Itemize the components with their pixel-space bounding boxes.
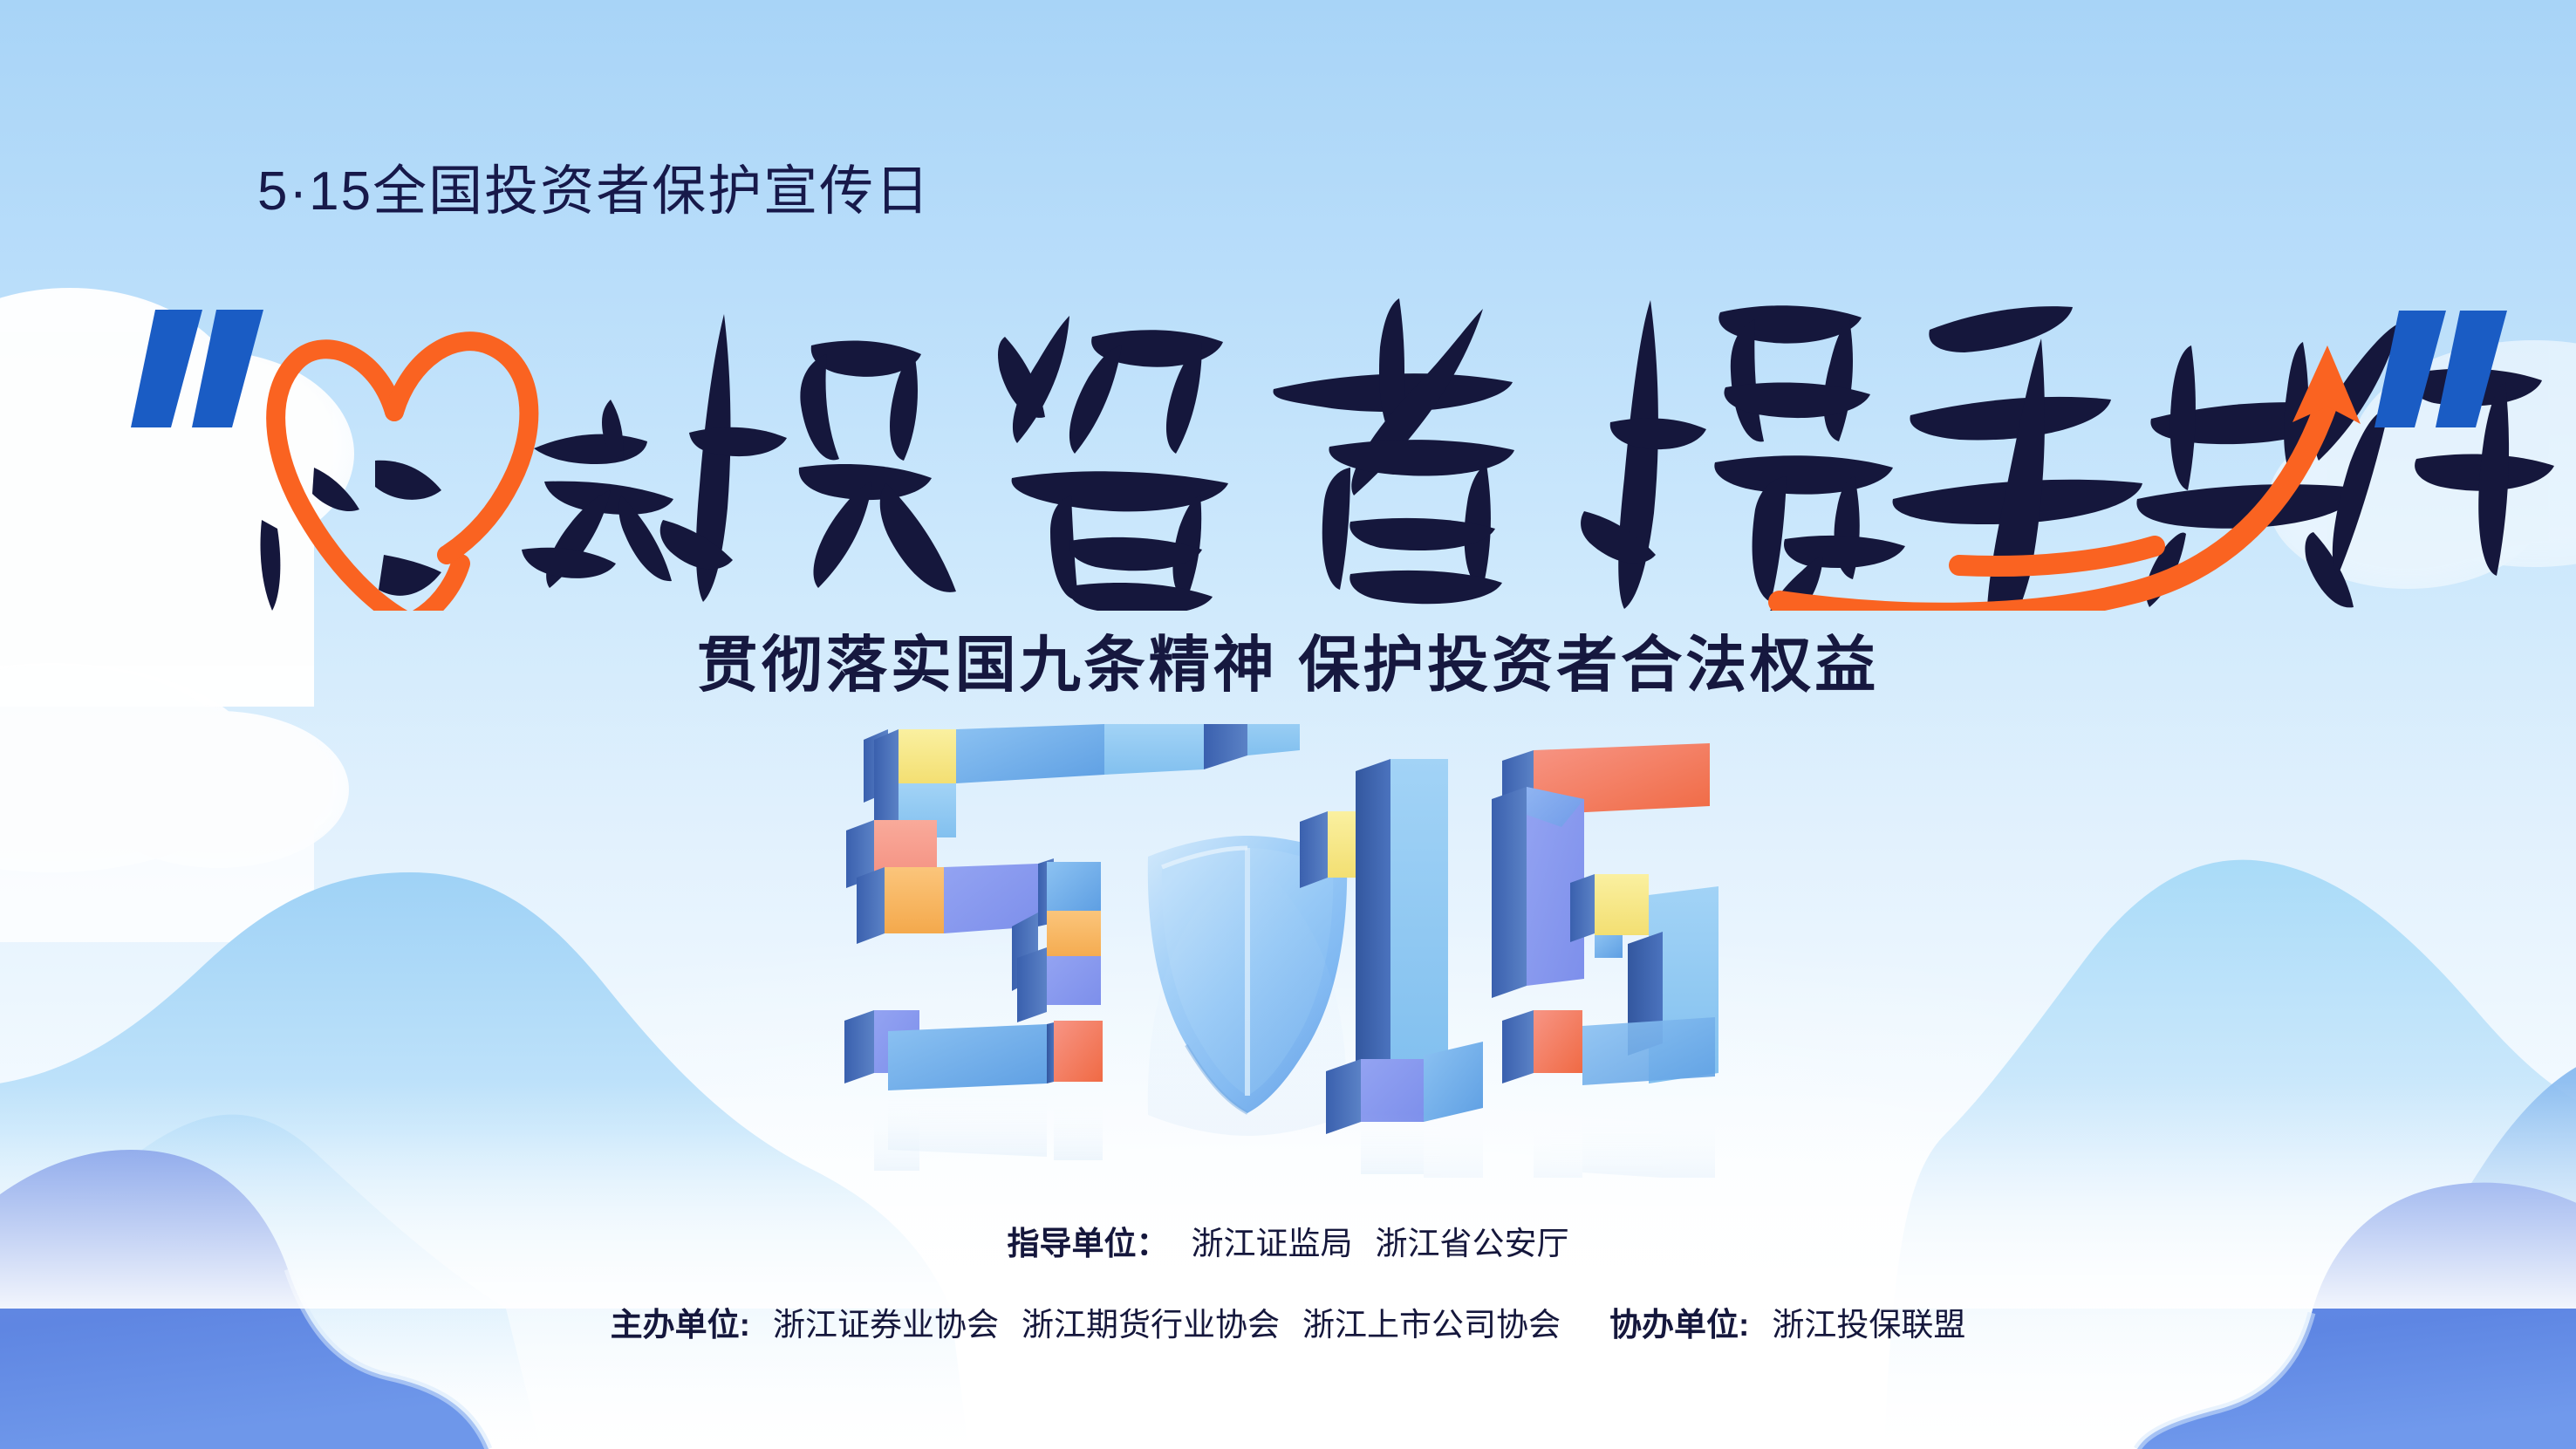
poster-canvas: 5·15全国投资者保护宣传日 .ink { fill:#15173C; } .o…	[0, 0, 2576, 1449]
guidance-label: 指导单位：	[1008, 1226, 1169, 1261]
subtitle-text: 贯彻落实国九条精神 保护投资者合法权益	[0, 616, 2576, 704]
mountain-left-far	[0, 1115, 541, 1449]
host-value-2: 浙江上市公司协会	[1302, 1307, 1561, 1343]
mountain-left-deep-rim	[288, 1269, 489, 1449]
host-value-0: 浙江证券业协会	[773, 1307, 999, 1343]
logo-515	[837, 724, 1736, 1178]
host-value-1: 浙江期货行业协会	[1022, 1307, 1280, 1343]
char-xie	[1581, 300, 1905, 611]
char-zi	[998, 316, 1228, 611]
coorganizer-value-0: 浙江投保联盟	[1772, 1307, 1965, 1343]
headline-calligraphy: .ink { fill:#15173C; } .orng { fill:none…	[0, 262, 2576, 611]
char-xing	[2316, 323, 2554, 576]
open-quote-mark	[131, 310, 263, 427]
guidance-value-1: 浙江省公安厅	[1376, 1226, 1569, 1261]
char-zhe	[1274, 298, 1514, 604]
host-label: 主办单位:	[611, 1307, 750, 1343]
guidance-value-0: 浙江证监局	[1192, 1226, 1353, 1261]
eyebrow-text: 5·15全国投资者保护宣传日	[257, 147, 931, 225]
coorganizer-label: 协办单位:	[1609, 1307, 1749, 1343]
char-tou	[660, 314, 956, 602]
cloud-left-lower	[0, 663, 349, 942]
footer-guidance-line: 指导单位：浙江证监局浙江省公安厅	[0, 1217, 2576, 1264]
mountain-right-light	[1884, 860, 2576, 1449]
mountain-left-light	[0, 872, 968, 1449]
logo-digit-5-right	[1492, 743, 1718, 1178]
char-xi	[522, 400, 673, 588]
footer-organizer-line: 主办单位:浙江证券业协会浙江期货行业协会浙江上市公司协会协办单位:浙江投保联盟	[0, 1298, 2576, 1345]
